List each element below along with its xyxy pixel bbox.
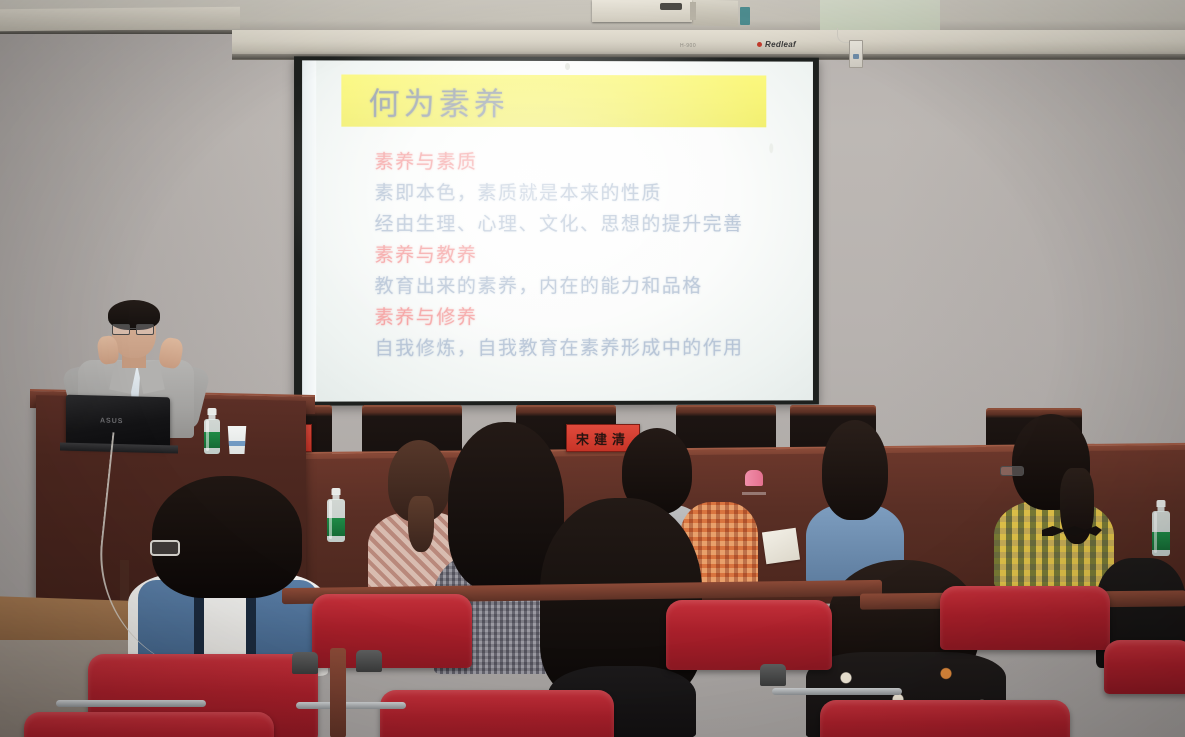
projector-mount-plate	[692, 0, 738, 27]
slide-title: 何为素养	[369, 79, 509, 124]
lecture-hall-photo: Redleaf H-900 何为素养 素养与素质 素即本色，素质就是本来的性质 …	[0, 0, 1185, 737]
attendee-denim-jacket	[806, 420, 904, 580]
wall-switch-box[interactable]	[849, 40, 863, 68]
screen-smudge-1	[565, 63, 570, 70]
slide-body: 素养与素质 素即本色，素质就是本来的性质 经由生理、心理、文化、思想的提升完善 …	[375, 147, 803, 365]
seat-rail-mid	[296, 702, 406, 709]
slide-line-1: 素养与素质	[375, 147, 803, 178]
armrest-left	[292, 652, 318, 674]
screen-left-band	[302, 60, 316, 401]
seat-front-mid[interactable]	[380, 690, 614, 737]
aisle-post	[330, 648, 346, 737]
presenter-glasses-icon	[112, 324, 154, 333]
slide-line-5: 教育出来的素养，内在的能力和品格	[375, 271, 803, 302]
slide-content: 何为素养 素养与素质 素即本色，素质就是本来的性质 经由生理、心理、文化、思想的…	[316, 60, 813, 401]
ceiling-panel-green	[820, 0, 940, 30]
ceiling-teal-fixture	[740, 7, 750, 25]
slide-line-4: 素养与教养	[375, 240, 803, 271]
slide-line-7: 自我修炼，自我教育在素养形成中的作用	[375, 333, 803, 365]
slide-line-3: 经由生理、心理、文化、思想的提升完善	[375, 209, 803, 240]
bottle-shine	[1154, 512, 1157, 553]
seat-far-right[interactable]	[1104, 640, 1185, 694]
armrest-mid	[356, 650, 382, 672]
projection-screen-frame: 何为素养 素养与素质 素即本色，素质就是本来的性质 经由生理、心理、文化、思想的…	[294, 56, 819, 405]
projector-lens	[660, 3, 682, 10]
slide-line-2: 素即本色，素质就是本来的性质	[375, 178, 803, 209]
seat-rail-right	[772, 688, 902, 695]
seat-front-lower[interactable]	[24, 712, 274, 737]
screen-brand-label: Redleaf	[765, 40, 796, 49]
screen-housing-model-text: H-900	[680, 43, 696, 49]
seat-front-right[interactable]	[820, 700, 1070, 737]
screen-smudge-2	[769, 143, 773, 153]
brand-dot-icon	[757, 42, 762, 47]
attendee-hair-clip	[1042, 526, 1102, 536]
slide-line-6: 素养与修养	[375, 302, 803, 334]
seat-rail-left	[56, 700, 206, 707]
water-bottle-desk-left	[327, 488, 345, 542]
screen-housing-left	[0, 7, 240, 32]
seat-back-right[interactable]	[940, 586, 1110, 650]
laptop-brand-label: ASUS	[100, 418, 123, 426]
projector-arm	[690, 2, 696, 20]
attendee-ponytail	[408, 496, 434, 552]
attendee-hair	[822, 420, 888, 520]
bottle-shine	[329, 500, 332, 539]
armrest-right	[760, 664, 786, 686]
attendee-glasses-icon	[1000, 466, 1024, 476]
seat-back-mid[interactable]	[666, 600, 832, 670]
tissue-pack	[762, 528, 800, 564]
